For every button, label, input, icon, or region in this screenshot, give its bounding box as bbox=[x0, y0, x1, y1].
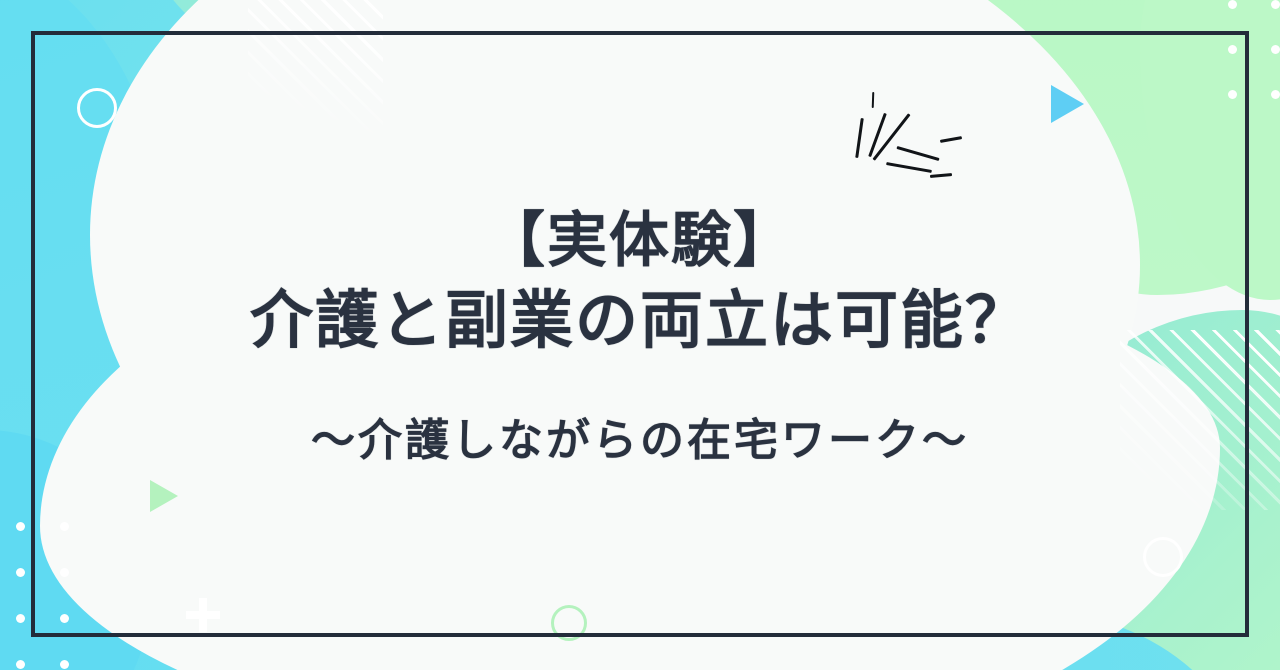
title-line-2: 介護と副業の両立は可能？ bbox=[250, 280, 1030, 362]
page-subtitle: ～介護しながらの在宅ワーク～ bbox=[311, 404, 969, 468]
text-block: 【実体験】 介護と副業の両立は可能？ ～介護しながらの在宅ワーク～ bbox=[0, 0, 1280, 670]
page-title: 【実体験】 介護と副業の両立は可能？ bbox=[250, 202, 1030, 362]
title-line-1: 【実体験】 bbox=[250, 202, 1030, 280]
banner-canvas: 【実体験】 介護と副業の両立は可能？ ～介護しながらの在宅ワーク～ bbox=[0, 0, 1280, 670]
